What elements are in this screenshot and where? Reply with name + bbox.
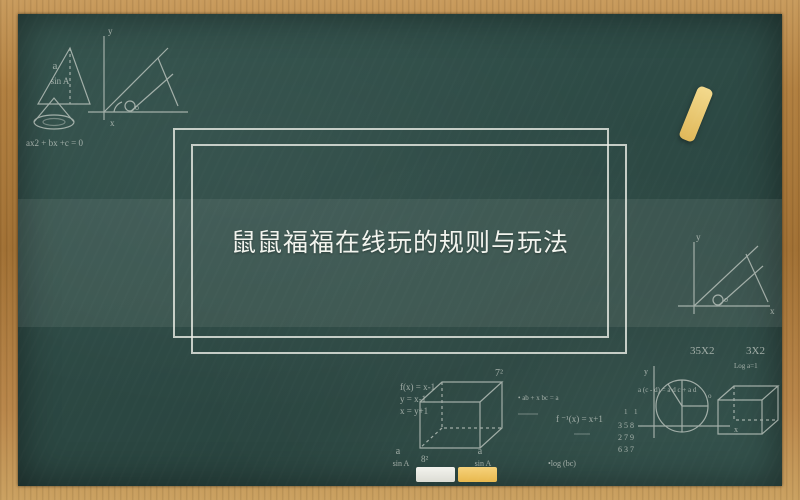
chalk-axis-x: x bbox=[110, 118, 115, 128]
chalk-row-279: 2 7 9 bbox=[618, 433, 634, 442]
chalk-eight-squared: 8² bbox=[421, 454, 429, 464]
chalk-axis-x3: x bbox=[770, 306, 775, 316]
chalk-formula-acd: a (c - d) = a d c + a d bbox=[638, 386, 697, 394]
chalk-note-sin-a: sin A bbox=[51, 76, 70, 86]
chalk-point-o2: o bbox=[708, 392, 712, 400]
blackboard-wooden-frame: a sin A y x o ax2 + bx +c = 0 f(x) = x-1… bbox=[0, 0, 800, 500]
chalk-sin-a2: sin A bbox=[393, 459, 410, 468]
chalk-x-eq: x = y+1 bbox=[400, 406, 428, 416]
chalk-note-a3: a bbox=[478, 446, 483, 457]
chalkboard-surface: a sin A y x o ax2 + bx +c = 0 f(x) = x-1… bbox=[18, 14, 782, 486]
chalk-axis-x2: x bbox=[734, 425, 738, 434]
chalk-log-bc: •log (bc) bbox=[548, 459, 576, 468]
yellow-chalk-icon bbox=[458, 467, 497, 482]
chalk-quadratic: ax2 + bx +c = 0 bbox=[26, 138, 83, 148]
chalk-seven-squared: 7² bbox=[495, 368, 503, 379]
chalk-axis-y3: y bbox=[696, 232, 701, 242]
chalk-note-a2: a bbox=[396, 446, 401, 457]
chalk-log-a: Log a=1 bbox=[734, 362, 758, 370]
chalk-35x2: 35X2 bbox=[690, 345, 714, 357]
chalk-point-o3: o bbox=[724, 295, 728, 304]
white-chalk-icon bbox=[416, 467, 455, 482]
chalk-row-358: 3 5 8 bbox=[618, 421, 634, 430]
chalk-axis-y2: y bbox=[644, 367, 648, 376]
chalk-row-637: 6 3 7 bbox=[618, 445, 634, 454]
diagonal-chalk-icon bbox=[678, 85, 714, 143]
chalk-y-eq: y = x-1 bbox=[400, 394, 426, 404]
chalk-digit-1a: 1 bbox=[624, 408, 628, 416]
chalk-point-o: o bbox=[135, 103, 139, 112]
chalk-inverse-f: f ⁻¹(x) = x+1 bbox=[556, 414, 603, 424]
chalk-digit-1b: 1 bbox=[634, 408, 638, 416]
chalk-axis-y: y bbox=[108, 26, 113, 36]
chalk-note-a: a bbox=[53, 60, 58, 72]
chalk-3x2: 3X2 bbox=[746, 345, 765, 357]
chalk-frame-inner bbox=[191, 144, 627, 354]
chalk-ab-bc: • ab + x bc = a bbox=[518, 394, 560, 402]
chalk-fx: f(x) = x-1 bbox=[400, 382, 435, 392]
